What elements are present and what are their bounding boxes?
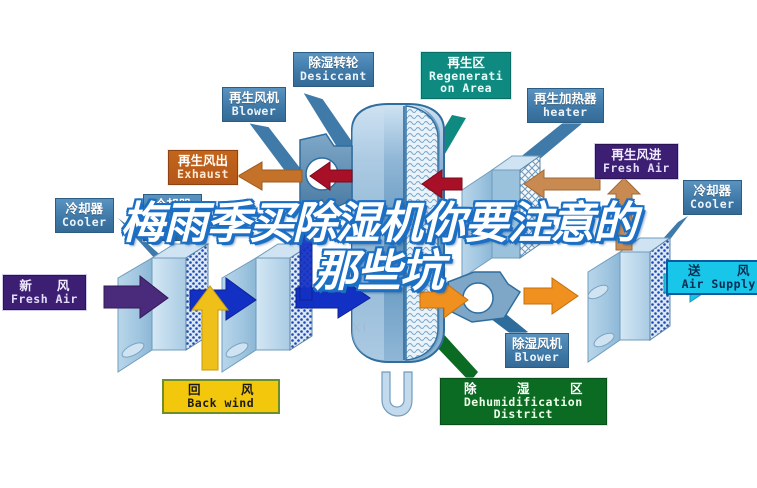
label-exhaust-cn: 再生风出 bbox=[177, 154, 229, 168]
label-cooler-left-en: Cooler bbox=[62, 216, 107, 228]
label-cooler-right-cn: 冷却器 bbox=[690, 184, 735, 198]
label-back-wind-en: Back wind bbox=[174, 397, 268, 409]
label-exhaust[interactable]: 再生风出 Exhaust bbox=[168, 150, 238, 185]
label-regen-blower[interactable]: 再生风机 Blower bbox=[222, 87, 286, 122]
regeneration-heater bbox=[462, 156, 540, 278]
label-fresh-air-in[interactable]: 新 风 Fresh Air bbox=[3, 275, 86, 310]
label-cooler-left-cn: 冷却器 bbox=[62, 202, 107, 216]
label-regen-heater-cn: 再生加热器 bbox=[534, 92, 597, 106]
label-desiccant-rotor[interactable]: 除湿转轮 Desiccant bbox=[293, 52, 374, 87]
label-fresh-air-in-en: Fresh Air bbox=[11, 293, 78, 305]
label-regen-air-in[interactable]: 再生风进 Fresh Air bbox=[595, 144, 678, 179]
label-cooler-left-2[interactable]: 冷却器 Cooler bbox=[143, 194, 202, 241]
diagram-canvas: XI 除湿转轮 Desiccant 再生风机 Blower 再生区 Regene… bbox=[0, 0, 757, 488]
label-dehum-blower-cn: 除湿风机 bbox=[512, 337, 562, 351]
label-air-supply-cn: 送 风 bbox=[676, 264, 757, 278]
label-cooler-left-2-en: Cooler bbox=[150, 212, 195, 224]
label-dehum-blower[interactable]: 除湿风机 Blower bbox=[505, 333, 569, 368]
label-back-wind-cn: 回 风 bbox=[174, 383, 268, 397]
label-air-supply-en: Air Supply bbox=[676, 278, 757, 290]
arrow-regen-riser bbox=[608, 178, 640, 250]
label-regen-blower-cn: 再生风机 bbox=[229, 91, 279, 105]
label-regen-heater-en: heater bbox=[534, 106, 597, 118]
label-dehumidification-district-cn: 除 湿 区 bbox=[450, 382, 597, 396]
arrow-supply-2 bbox=[524, 278, 578, 314]
label-cooler-right-en: Cooler bbox=[690, 198, 735, 210]
label-regeneration-area-cn: 再生区 bbox=[429, 56, 503, 70]
label-dehumidification-district-en2: District bbox=[450, 408, 597, 420]
desiccant-rotor bbox=[352, 104, 444, 362]
label-desiccant-rotor-en: Desiccant bbox=[300, 70, 367, 82]
label-regen-heater[interactable]: 再生加热器 heater bbox=[527, 88, 604, 123]
label-fresh-air-in-cn: 新 风 bbox=[11, 279, 78, 293]
label-dehum-blower-en: Blower bbox=[512, 351, 562, 363]
label-cooler-left[interactable]: 冷却器 Cooler bbox=[55, 198, 114, 233]
label-back-wind[interactable]: 回 风 Back wind bbox=[162, 379, 280, 414]
label-regen-air-in-cn: 再生风进 bbox=[603, 148, 670, 162]
cooling-coil-right bbox=[586, 238, 670, 362]
label-air-supply[interactable]: 送 风 Air Supply bbox=[666, 260, 757, 295]
label-regen-blower-en: Blower bbox=[229, 105, 279, 117]
label-regen-air-in-en: Fresh Air bbox=[603, 162, 670, 174]
label-desiccant-rotor-cn: 除湿转轮 bbox=[300, 56, 367, 70]
label-cooler-right[interactable]: 冷却器 Cooler bbox=[683, 180, 742, 215]
rotor-drain bbox=[382, 372, 412, 416]
label-cooler-left-2-cn: 冷却器 bbox=[150, 198, 195, 212]
label-dehumidification-district[interactable]: 除 湿 区 Dehumidification District bbox=[440, 378, 607, 425]
label-regeneration-area[interactable]: 再生区 Regenerati on Area bbox=[421, 52, 511, 99]
label-exhaust-en: Exhaust bbox=[177, 168, 229, 180]
schematic-artwork bbox=[0, 0, 757, 488]
label-regeneration-area-en2: on Area bbox=[429, 82, 503, 94]
